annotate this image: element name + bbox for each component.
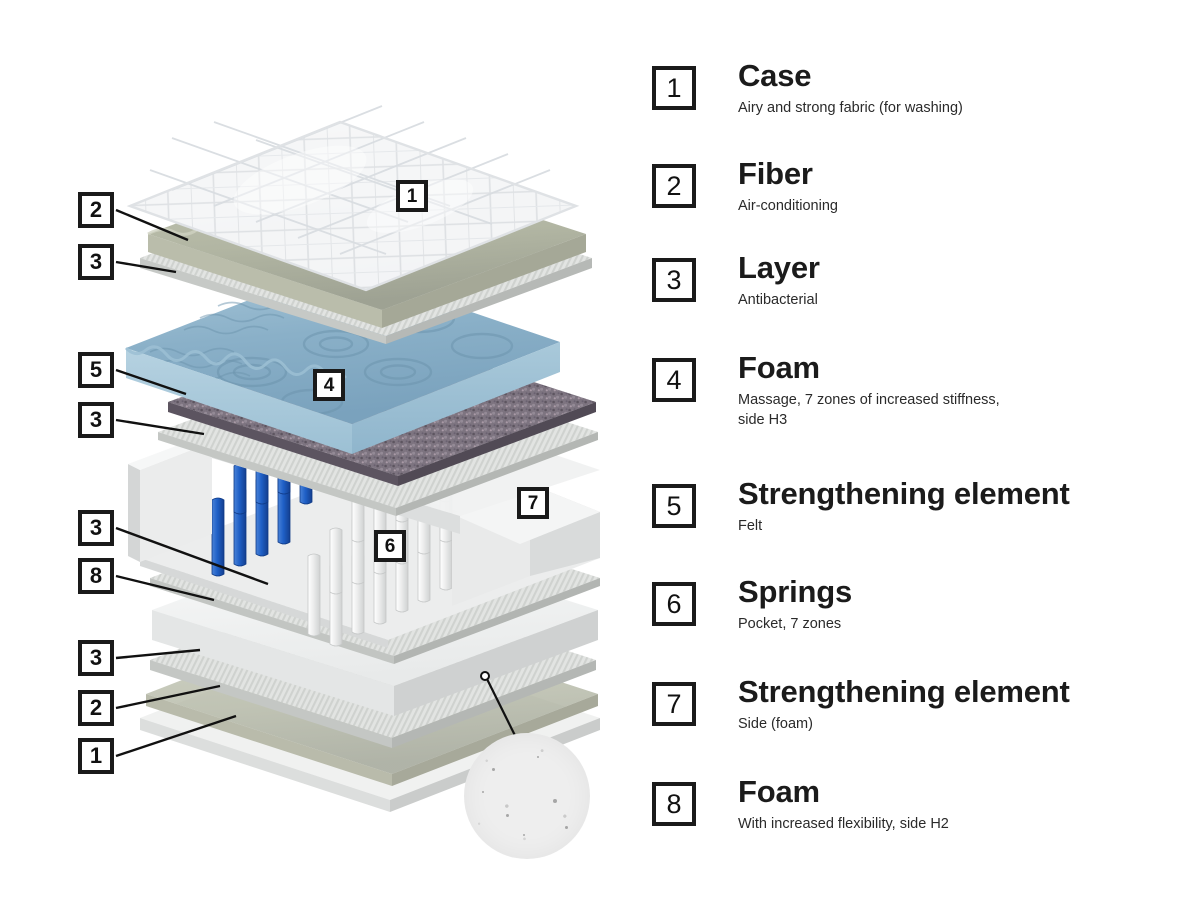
legend-title-4: Foam: [738, 352, 1188, 384]
mattress-exploded-illustration: [0, 0, 1200, 900]
legend-title-7: Strengthening element: [738, 676, 1188, 708]
badge-6-springs: 6: [374, 530, 406, 562]
callout-2-fiber-bottom: 2: [78, 690, 114, 726]
diagram-stage: 2 3 5 3 3 8 3 2 1 1 4 7 6 1 Case Airy an…: [0, 0, 1200, 900]
badge-1-case: 1: [396, 180, 428, 212]
legend-title-2: Fiber: [738, 158, 1188, 190]
legend-title-5: Strengthening element: [738, 478, 1188, 510]
legend-number-5: 5: [652, 484, 696, 528]
callout-3-layer-top: 3: [78, 244, 114, 280]
legend-number-3: 3: [652, 258, 696, 302]
legend-number-1: 1: [652, 66, 696, 110]
legend-subtitle-2: Air-conditioning: [738, 197, 1188, 217]
legend-number-4: 4: [652, 358, 696, 402]
legend-subtitle-1: Airy and strong fabric (for washing): [738, 99, 1188, 119]
badge-4-foam: 4: [313, 369, 345, 401]
legend-title-1: Case: [738, 60, 1188, 92]
legend-number-8: 8: [652, 782, 696, 826]
callout-3-layer-spring: 3: [78, 510, 114, 546]
callout-5-felt: 5: [78, 352, 114, 388]
legend-number-6: 6: [652, 582, 696, 626]
legend-title-8: Foam: [738, 776, 1188, 808]
legend-subtitle-6: Pocket, 7 zones: [738, 615, 1188, 635]
callout-2-fiber-top: 2: [78, 192, 114, 228]
legend-subtitle-5: Felt: [738, 517, 1188, 537]
badge-7-side: 7: [517, 487, 549, 519]
callout-1-case-bottom: 1: [78, 738, 114, 774]
legend-title-3: Layer: [738, 252, 1188, 284]
legend-number-2: 2: [652, 164, 696, 208]
legend-subtitle-7: Side (foam): [738, 715, 1188, 735]
foam-texture-magnifier: [464, 733, 590, 859]
legend-subtitle-8: With increased flexibility, side H2: [738, 815, 1188, 835]
callout-8-foam-bottom: 8: [78, 558, 114, 594]
legend-number-7: 7: [652, 682, 696, 726]
callout-3-layer-low: 3: [78, 640, 114, 676]
legend-title-6: Springs: [738, 576, 1188, 608]
legend-subtitle-4: Massage, 7 zones of increased stiffness,…: [738, 391, 1188, 430]
legend-subtitle-3: Antibacterial: [738, 291, 1188, 311]
callout-3-layer-mid: 3: [78, 402, 114, 438]
